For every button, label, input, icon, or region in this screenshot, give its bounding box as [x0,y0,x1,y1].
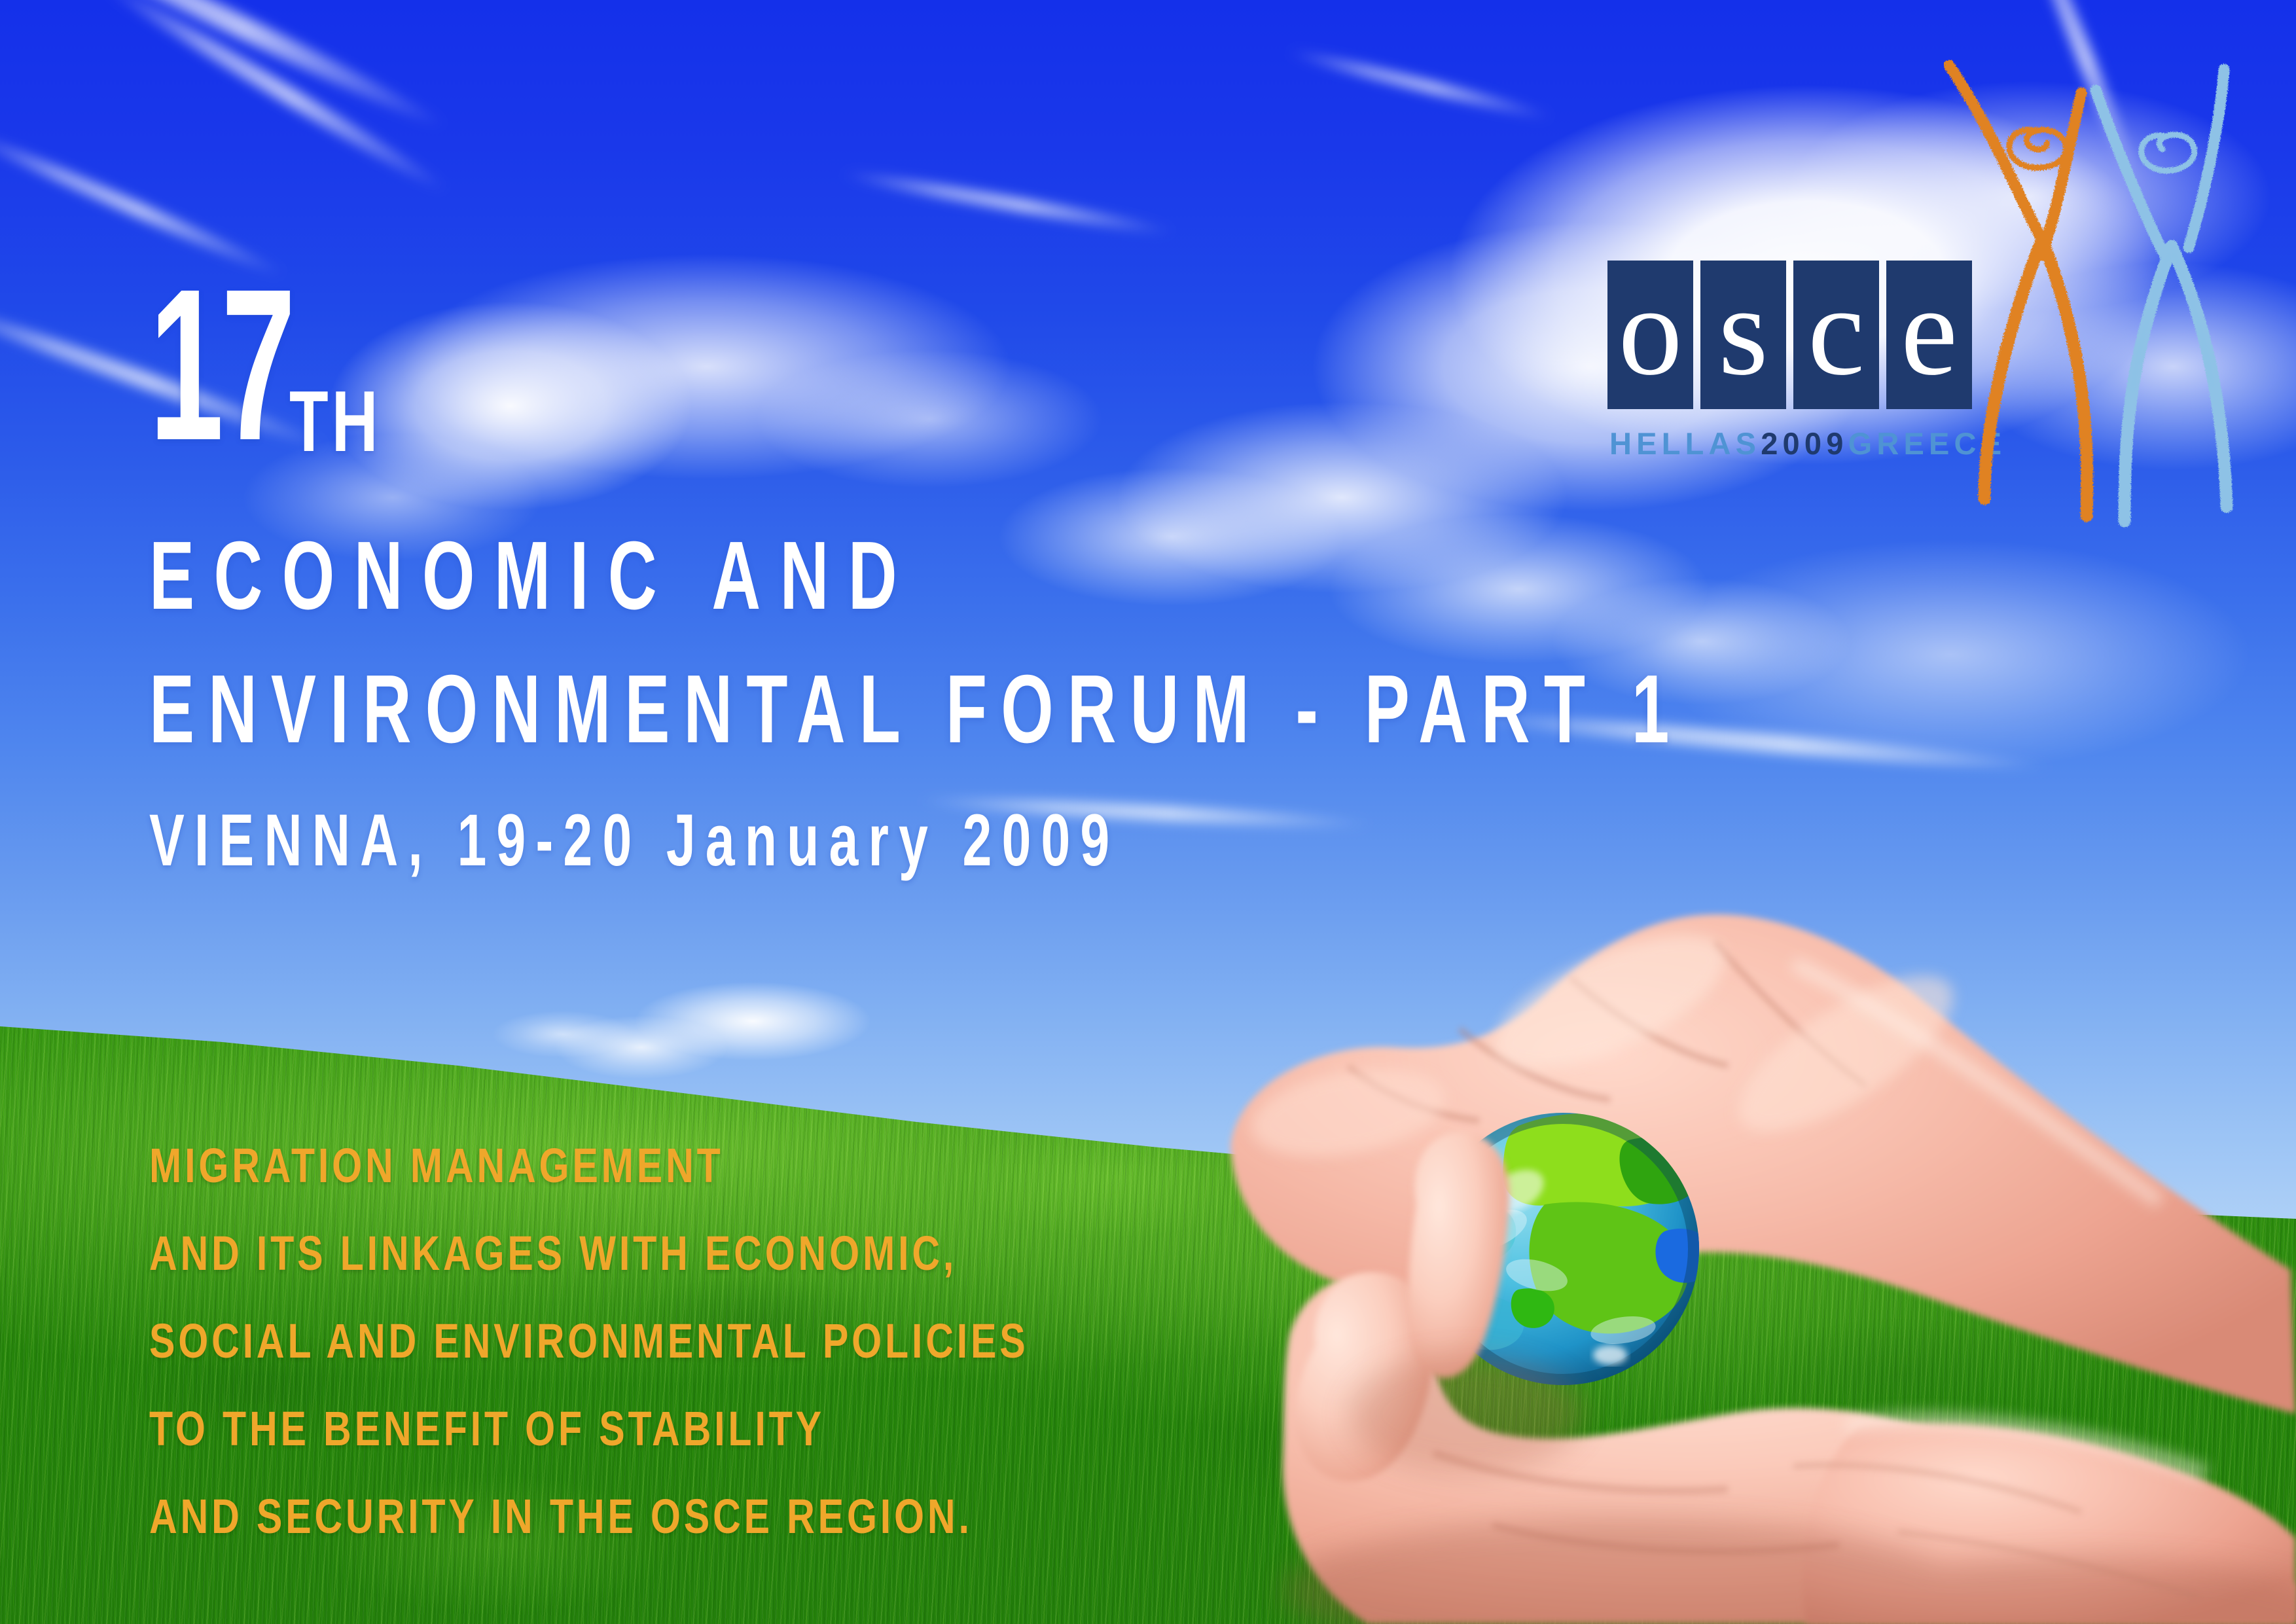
hands-globe-illustration [1152,838,2296,1624]
osce-letter-s: s [1718,281,1768,382]
osce-logo-box-o: o [1607,261,1693,409]
title-line-2: ENVIRONMENTAL FORUM - PART 1 [149,661,1683,758]
osce-chairmanship-subtitle: HELLAS2009GREECE [1609,428,1987,459]
osce-forum-poster: 17 TH ECONOMIC AND ENVIRONMENTAL FORUM -… [0,0,2296,1624]
osce-letter-c: c [1808,281,1865,382]
person-raised-arms-orange-icon [1949,65,2087,516]
theme-line-1: MIGRATION MANAGEMENT [149,1142,1029,1190]
osce-letter-o: o [1619,281,1683,382]
cupped-hands-photo [1152,838,2296,1624]
venue-and-date-line: VIENNA, 19-20 January 2009 [149,804,1119,877]
subtitle-year: 2009 [1761,426,1848,461]
title-line-1: ECONOMIC AND [149,528,916,624]
osce-logo-box-c: c [1793,261,1879,409]
theme-line-2: AND ITS LINKAGES WITH ECONOMIC, [149,1229,1029,1278]
theme-block: MIGRATION MANAGEMENT AND ITS LINKAGES WI… [149,1142,1248,1580]
osce-logo-letter-boxes: o s c e [1607,261,1987,409]
theme-line-5: AND SECURITY IN THE OSCE REGION. [149,1492,1029,1541]
edition-suffix: TH [289,378,382,465]
subtitle-hellas: HELLAS [1609,426,1761,461]
theme-line-3: SOCIAL AND ENVIRONMENTAL POLICIES [149,1317,1029,1365]
osce-logo-box-s: s [1700,261,1786,409]
osce-logo: o s c e HELLAS2009GREECE [1607,261,1987,459]
greek-chairmanship-figures [1944,59,2284,530]
edition-number: 17 [149,257,293,473]
theme-line-4: TO THE BENEFIT OF STABILITY [149,1405,1029,1453]
person-raised-arms-blue-icon [2096,69,2227,521]
